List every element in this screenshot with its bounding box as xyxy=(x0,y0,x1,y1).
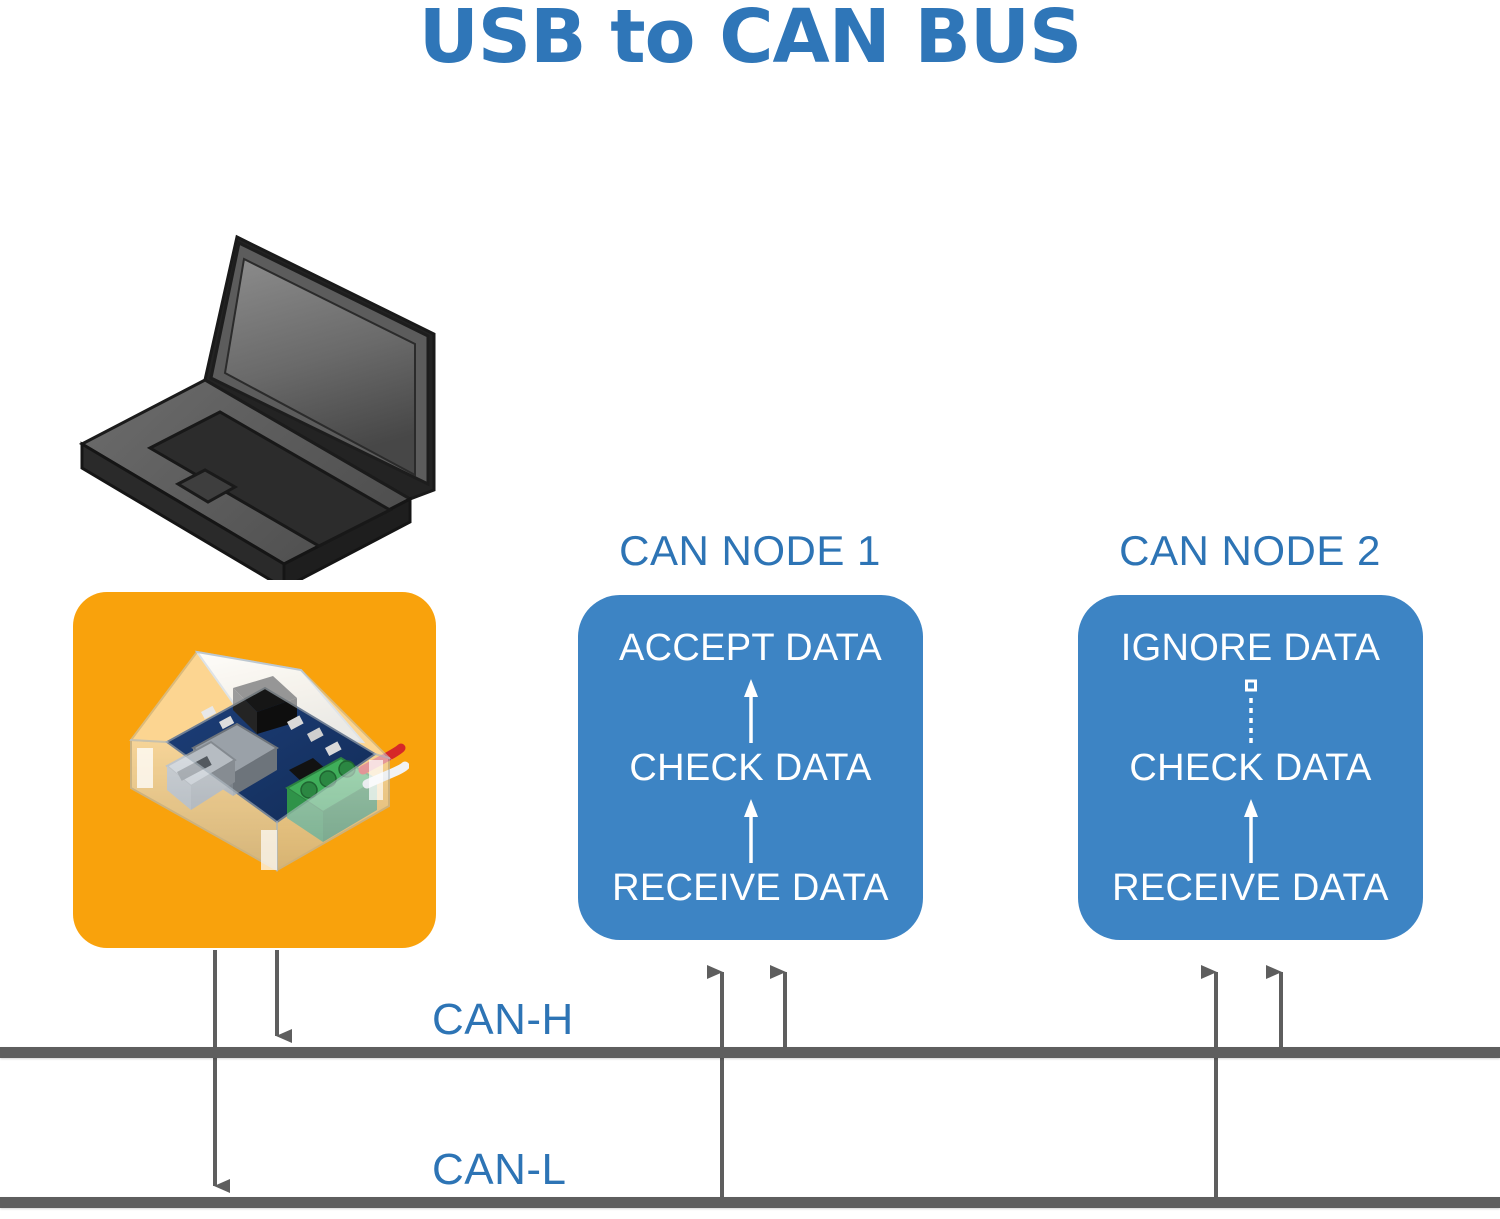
can-node-1-box[interactable]: ACCEPT DATA CHECK DATA RECEIVE DATA xyxy=(578,595,923,940)
can-node-2-arrow-check-to-ignore-dashed xyxy=(1240,679,1262,743)
can-node-2-step-check: CHECK DATA xyxy=(1078,747,1423,790)
can-node-2-title: CAN NODE 2 xyxy=(1070,527,1430,575)
can-high-bus-line xyxy=(0,1047,1500,1058)
usb-can-adapter-photo xyxy=(101,630,409,910)
can-node-1-step-check: CHECK DATA xyxy=(578,747,923,790)
page-title: USB to CAN BUS xyxy=(0,0,1500,80)
can-low-label: CAN-L xyxy=(432,1145,567,1195)
can-node-1-title: CAN NODE 1 xyxy=(570,527,930,575)
can-node-1-arrow-check-to-accept xyxy=(740,679,762,743)
can-high-label: CAN-H xyxy=(432,995,574,1045)
can-node-1-step-accept: ACCEPT DATA xyxy=(578,627,923,670)
can-node-1-arrow-receive-to-check xyxy=(740,799,762,863)
can-node-2-box[interactable]: IGNORE DATA CHECK DATA RECEIVE DATA xyxy=(1078,595,1423,940)
can-low-bus-line xyxy=(0,1197,1500,1208)
can-node-2-step-receive: RECEIVE DATA xyxy=(1078,867,1423,910)
usb-can-adapter-panel xyxy=(73,592,436,948)
can-node-2-arrow-receive-to-check xyxy=(1240,799,1262,863)
can-node-1-step-receive: RECEIVE DATA xyxy=(578,867,923,910)
laptop-icon xyxy=(72,222,448,580)
can-bus-diagram: USB to CAN BUS xyxy=(0,0,1500,1219)
can-node-2-step-ignore: IGNORE DATA xyxy=(1078,627,1423,670)
